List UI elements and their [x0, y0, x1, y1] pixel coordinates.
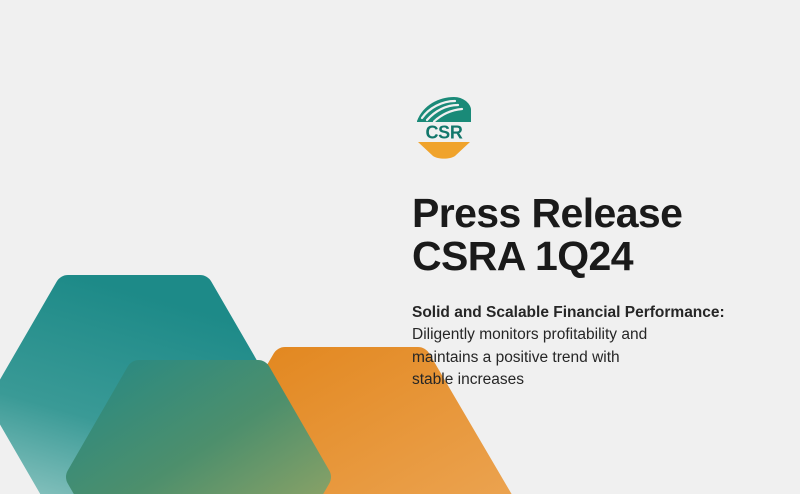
- headline-line-1: Press Release: [412, 192, 772, 235]
- teal-hexagon: [2, 288, 266, 494]
- logo-wordmark: CSR: [425, 123, 462, 143]
- subtitle-line-1: Diligently monitors profitability and: [412, 324, 772, 346]
- blend-hexagon: [79, 373, 318, 494]
- logo-chevron-icon: [418, 142, 470, 159]
- subtitle-line-3: stable increases: [412, 369, 772, 391]
- press-release-slide: CSR Press Release CSRA 1Q24 Solid and Sc…: [0, 0, 800, 494]
- subtitle-heading: Solid and Scalable Financial Performance…: [412, 302, 772, 324]
- csr-logo: CSR: [413, 96, 475, 160]
- subtitle-line-2: maintains a positive trend with: [412, 347, 772, 369]
- headline-line-2: CSRA 1Q24: [412, 235, 772, 278]
- text-block: Press Release CSRA 1Q24 Solid and Scalab…: [412, 192, 772, 392]
- subtitle-block: Solid and Scalable Financial Performance…: [412, 302, 772, 392]
